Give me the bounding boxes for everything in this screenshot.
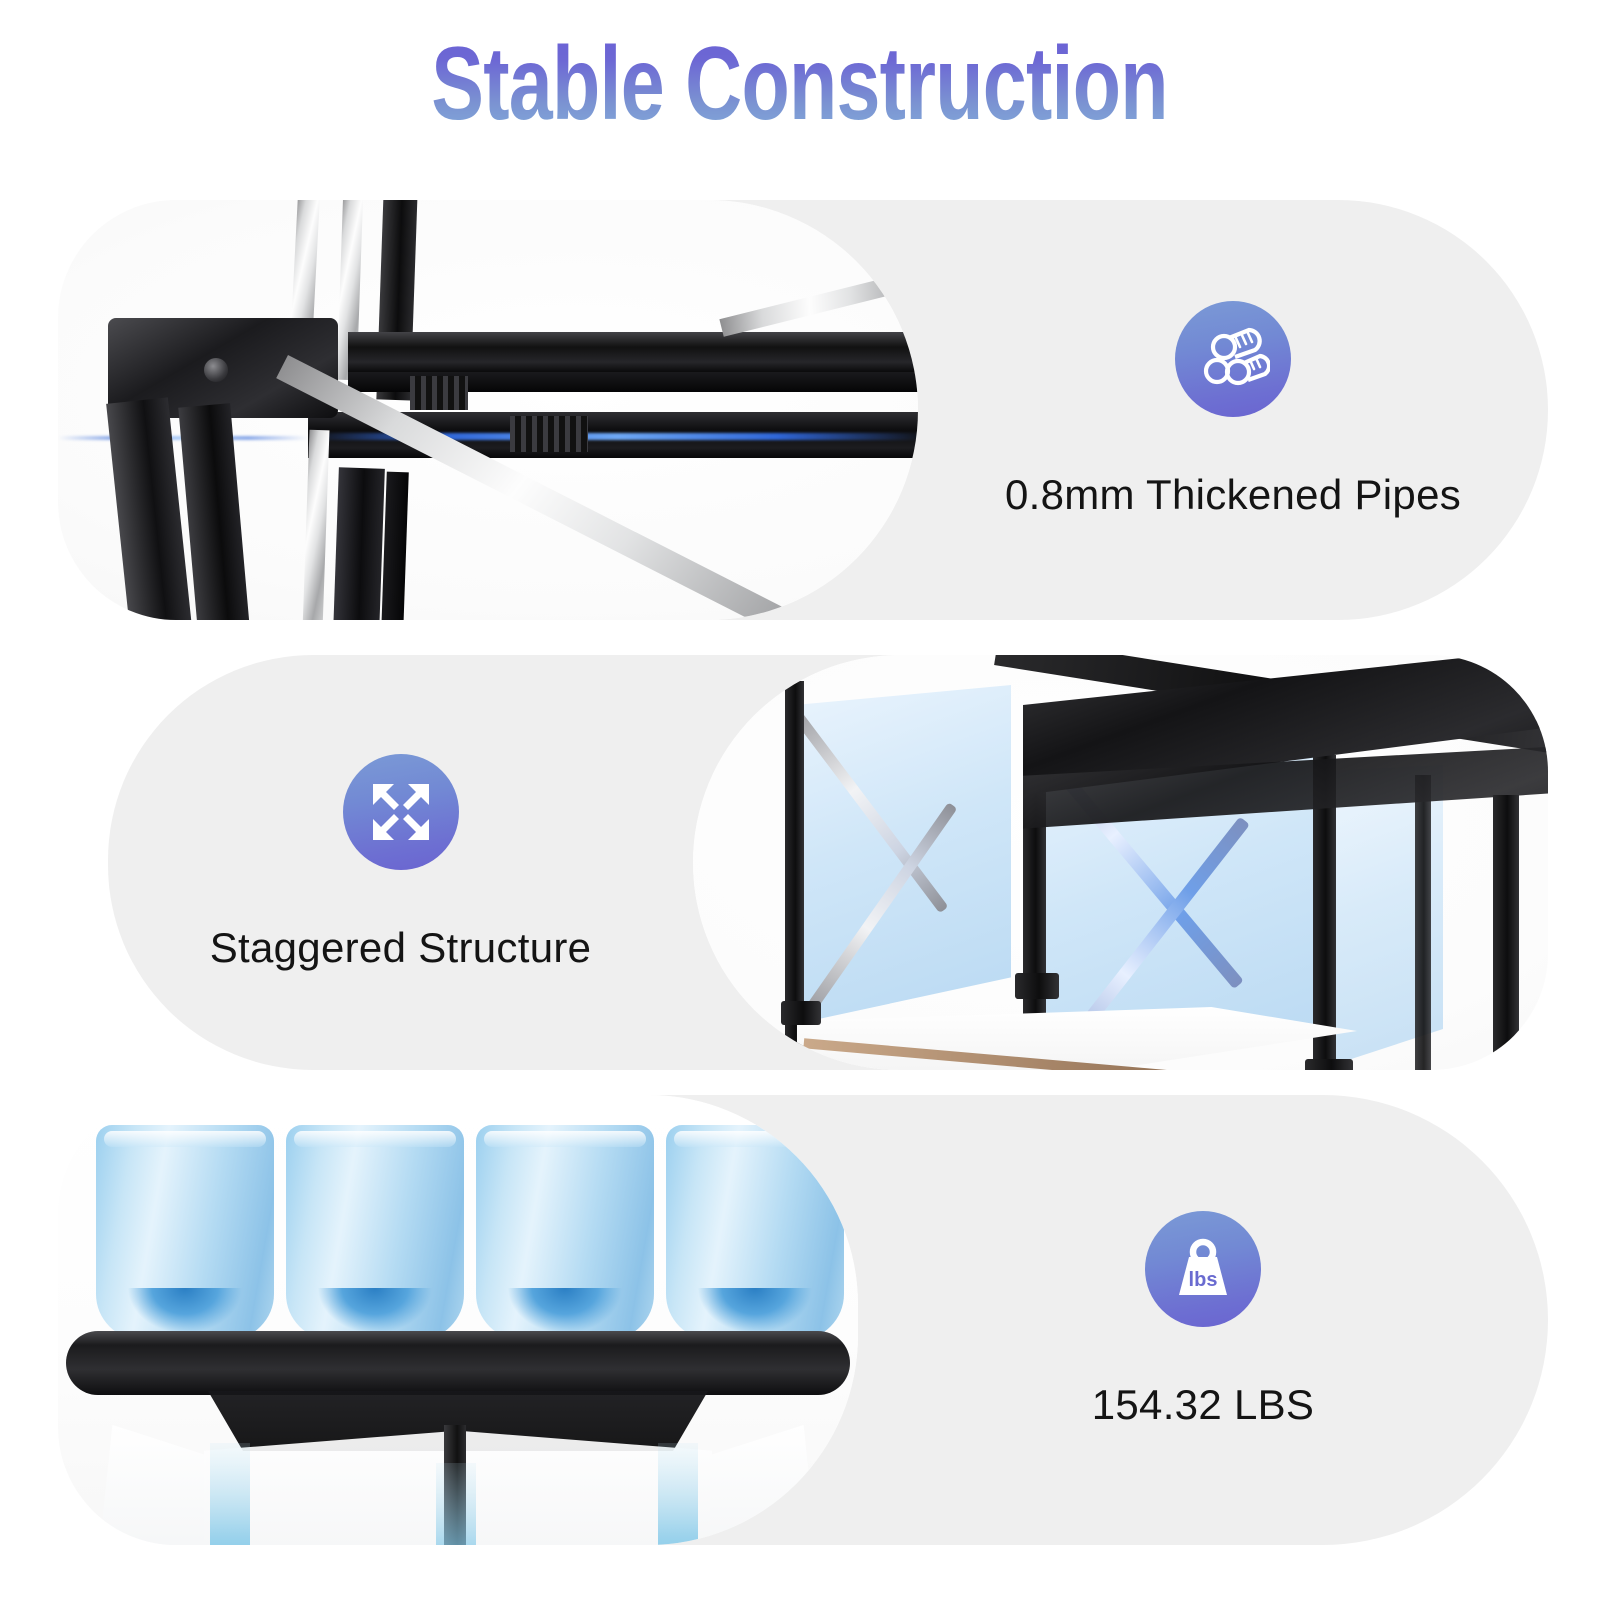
header: Stable Construction [0,0,1600,168]
feature-label: Staggered Structure [210,924,592,972]
feature-label: 0.8mm Thickened Pipes [1005,471,1461,519]
feature-caption-weight-capacity: lbs 154.32 LBS [858,1211,1548,1429]
feature-photo-staggered-structure [693,655,1548,1070]
feature-panel-staggered-structure: Staggered Structure [108,655,1548,1070]
stacked-pipes-icon [1175,301,1291,417]
feature-photo-thickened-pipes [58,200,918,620]
feature-panel-thickened-pipes: 0.8mm Thickened Pipes [58,200,1548,620]
feature-photo-weight-capacity [58,1095,858,1545]
feature-caption-staggered-structure: Staggered Structure [108,754,693,972]
feature-label: 154.32 LBS [1092,1381,1315,1429]
weight-icon-unit: lbs [1189,1269,1218,1291]
page-title: Stable Construction [432,25,1168,144]
feature-panel-weight-capacity: lbs 154.32 LBS [58,1095,1548,1545]
feature-caption-thickened-pipes: 0.8mm Thickened Pipes [918,301,1548,519]
weight-lbs-icon: lbs [1145,1211,1261,1327]
four-way-expand-arrows-icon [343,754,459,870]
